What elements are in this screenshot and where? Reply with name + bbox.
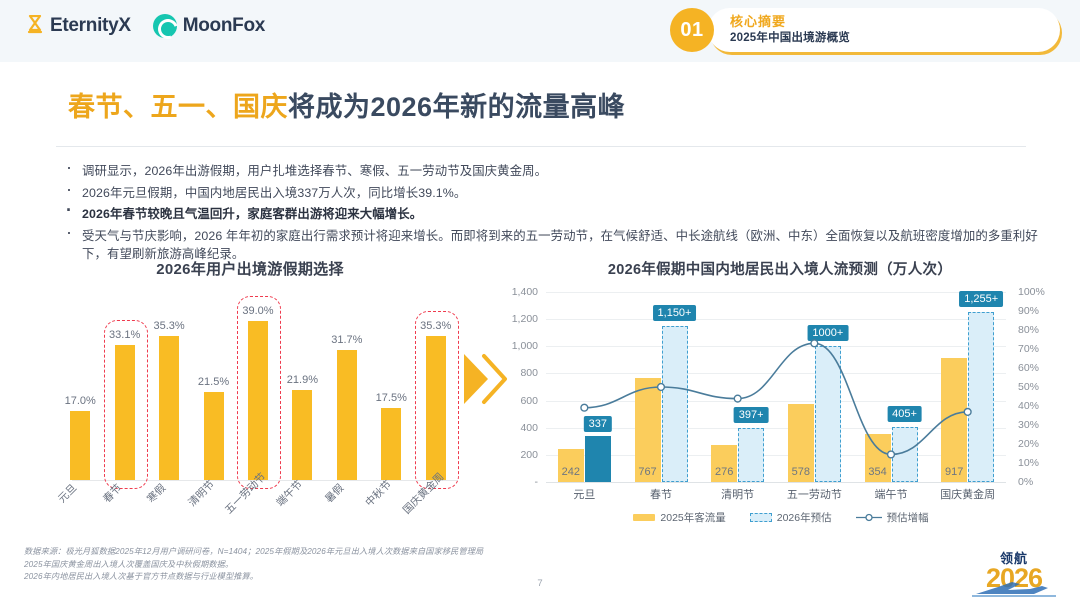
y-tick-label: 400 (520, 422, 538, 434)
airplane-icon (968, 578, 1060, 605)
chart-right-title: 2026年假期中国内地居民出入境人流预测（万人次） (500, 258, 1060, 279)
y-tick-label-right: 50% (1018, 381, 1039, 393)
footnote-line: 数据来源：极光月狐数据2025年12月用户调研问卷，N=1404；2025年假期… (24, 546, 724, 559)
legend-label: 2025年客流量 (660, 510, 725, 525)
page-number: 7 (0, 578, 1080, 589)
bar-column: 17.0% (58, 296, 102, 480)
line-marker (888, 451, 895, 458)
eternityx-label: EternityX (50, 15, 131, 37)
legend-swatch-line-icon (856, 513, 882, 522)
x-tick-label: 端午节 (853, 486, 930, 502)
bar-column: 35.3% (147, 296, 191, 480)
x-tick: 国庆黄金周 (396, 486, 440, 540)
eternityx-logo: EternityX (27, 15, 131, 37)
growth-line (584, 343, 967, 454)
line-marker (811, 340, 818, 347)
bullet-item: 2026年元旦假期，中国内地居民出入境337万人次，同比增长39.1%。 (60, 184, 1050, 203)
bar-column: 21.9% (280, 296, 324, 480)
line-marker (581, 404, 588, 411)
bar-column: 21.5% (191, 296, 235, 480)
y-tick-label: 200 (520, 449, 538, 461)
section-badge-text: 核心摘要 2025年中国出境游概览 (730, 13, 850, 46)
legend-item-2025: 2025年客流量 (633, 510, 725, 525)
bar-value-label: 33.1% (109, 329, 140, 341)
page-title-rest: 将成为2026年新的流量高峰 (288, 92, 625, 122)
x-tick-label: 元旦 (546, 486, 623, 502)
x-tick: 春节 (84, 486, 128, 540)
hourglass-icon (27, 15, 43, 37)
bar-value-label: 31.7% (331, 334, 362, 346)
legend-swatch-yellow-icon (633, 514, 655, 521)
page-title: 春节、五一、国庆将成为2026年新的流量高峰 (68, 85, 625, 124)
x-tick: 寒假 (129, 486, 173, 540)
bullet-item: 调研显示，2026年出游假期，用户扎堆选择春节、寒假、五一劳动节及国庆黄金周。 (60, 162, 1050, 181)
x-tick-label: 春节 (99, 481, 124, 506)
gridline (546, 482, 1006, 483)
brand-row: EternityX MoonFox (27, 14, 265, 38)
y-tick-label-right: 100% (1018, 286, 1045, 298)
section-badge: 核心摘要 2025年中国出境游概览 01 (670, 8, 1060, 52)
x-tick-label: 清明节 (699, 486, 776, 502)
section-subtitle: 2025年中国出境游概览 (730, 30, 850, 46)
bar-value-label: 39.0% (242, 305, 273, 317)
legend-item-2026: 2026年预估 (750, 510, 832, 525)
x-tick-label: 元旦 (55, 481, 80, 506)
chart-right-y-axis-left: 1,4001,2001,000800600400200- (500, 292, 544, 482)
bar-value-label: 35.3% (420, 320, 451, 332)
line-marker (734, 395, 741, 402)
bar (204, 392, 224, 480)
legend-item-growth: 预估增幅 (856, 510, 929, 525)
slide-header: EternityX MoonFox 核心摘要 2025年中国出境游概览 01 (0, 0, 1080, 62)
bar (70, 411, 90, 481)
legend-swatch-dashed-blue-icon (750, 513, 772, 522)
x-tick-label: 五一劳动节 (776, 486, 853, 502)
slide: EternityX MoonFox 核心摘要 2025年中国出境游概览 01 春… (0, 0, 1080, 608)
y-tick-label-right: 70% (1018, 343, 1039, 355)
bullet-list: 调研显示，2026年出游假期，用户扎堆选择春节、寒假、五一劳动节及国庆黄金周。 … (60, 162, 1050, 267)
title-divider (56, 146, 1026, 147)
y-tick-label: 1,000 (512, 340, 538, 352)
page-title-highlight: 春节、五一、国庆 (68, 92, 288, 122)
y-tick-label-right: 40% (1018, 400, 1039, 412)
bar (381, 408, 401, 480)
moonfox-icon (153, 14, 177, 38)
chart-right-legend: 2025年客流量 2026年预估 预估增幅 (546, 510, 1016, 525)
footnote-line: 2025年国庆黄金周出入境人次覆盖国庆及中秋假期数据。 (24, 559, 724, 572)
footer-logo: 领航 2026 (962, 548, 1066, 600)
x-tick-label: 春节 (623, 486, 700, 502)
y-tick-label-right: 0% (1018, 476, 1033, 488)
bar-value-label: 35.3% (153, 320, 184, 332)
bar-value-label: 17.0% (65, 395, 96, 407)
y-tick-label: 1,200 (512, 313, 538, 325)
moonfox-logo: MoonFox (153, 14, 265, 38)
chart-left-x-labels: 元旦春节寒假清明节五一劳动节端午节暑假中秋节国庆黄金周 (40, 486, 440, 540)
bar-column: 35.3% (414, 296, 458, 480)
y-tick-label-right: 10% (1018, 457, 1039, 469)
section-title: 核心摘要 (730, 13, 850, 30)
chart-left-plot: 17.0%33.1%35.3%21.5%39.0%21.9%31.7%17.5%… (58, 296, 458, 481)
legend-label: 预估增幅 (887, 510, 929, 525)
x-tick-label: 国庆黄金周 (929, 486, 1006, 502)
bar (115, 345, 135, 480)
chart-right-plot: 2423377671,150+276397+5781000+354405+917… (546, 292, 1006, 482)
y-tick-label-right: 90% (1018, 305, 1039, 317)
section-number: 01 (670, 8, 714, 52)
y-tick-label-right: 80% (1018, 324, 1039, 336)
x-tick: 五一劳动节 (218, 486, 262, 540)
moonfox-label: MoonFox (183, 15, 265, 37)
line-marker (964, 408, 971, 415)
x-tick: 暑假 (307, 486, 351, 540)
chart-left-title: 2026年用户出境游假期选择 (40, 258, 460, 279)
y-tick-label-right: 30% (1018, 419, 1039, 431)
bar-column: 17.5% (369, 296, 413, 480)
x-tick-label: 清明节 (184, 477, 217, 510)
bar-value-label: 17.5% (376, 392, 407, 404)
y-tick-label: 800 (520, 367, 538, 379)
bullet-item: 2026年春节较晚且气温回升，家庭客群出游将迎来大幅增长。 (60, 205, 1050, 224)
x-tick-label: 寒假 (144, 481, 169, 506)
bar (159, 336, 179, 480)
legend-label: 2026年预估 (777, 510, 832, 525)
x-tick-label: 中秋节 (362, 477, 395, 510)
x-tick-label: 暑假 (321, 481, 346, 506)
bar-value-label: 21.5% (198, 376, 229, 388)
x-tick: 元旦 (40, 486, 84, 540)
x-tick: 端午节 (262, 486, 306, 540)
bar (426, 336, 446, 480)
chart-holiday-choice: 2026年用户出境游假期选择 17.0%33.1%35.3%21.5%39.0%… (40, 258, 460, 540)
bar-column: 33.1% (102, 296, 146, 480)
bar-column: 31.7% (325, 296, 369, 480)
bar-column: 39.0% (236, 296, 280, 480)
bar (337, 350, 357, 480)
x-tick-label: 端午节 (273, 477, 306, 510)
line-marker (658, 384, 665, 391)
bar (292, 390, 312, 480)
chart-border-flow-forecast: 2026年假期中国内地居民出入境人流预测（万人次） 1,4001,2001,00… (500, 258, 1060, 548)
y-tick-label-right: 20% (1018, 438, 1039, 450)
x-tick: 清明节 (173, 486, 217, 540)
chart-left-bars: 17.0%33.1%35.3%21.5%39.0%21.9%31.7%17.5%… (58, 296, 458, 480)
chart-right-line-series (546, 292, 1006, 482)
y-tick-label-right: 60% (1018, 362, 1039, 374)
y-tick-label: - (535, 476, 539, 488)
chart-right-x-labels: 元旦春节清明节五一劳动节端午节国庆黄金周 (546, 486, 1006, 502)
bar (248, 321, 268, 480)
y-tick-label: 1,400 (512, 286, 538, 298)
chart-right-y-axis-right: 100%90%80%70%60%50%40%30%20%10%0% (1012, 292, 1058, 482)
x-tick: 中秋节 (351, 486, 395, 540)
bar-value-label: 21.9% (287, 374, 318, 386)
y-tick-label: 600 (520, 395, 538, 407)
